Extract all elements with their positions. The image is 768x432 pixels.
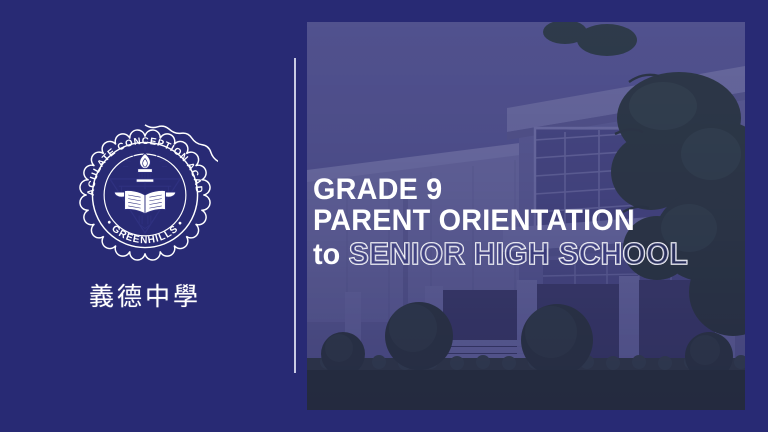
school-chinese-name: 義德中學	[89, 284, 201, 309]
school-seal-icon: IMMACULATE CONCEPTION ACADEMY • GREENHIL…	[72, 122, 218, 268]
presentation-slide: IMMACULATE CONCEPTION ACADEMY • GREENHIL…	[0, 0, 768, 432]
headline-line-3: to SENIOR HIGH SCHOOL	[313, 238, 732, 271]
headline-outlined-text: SENIOR HIGH SCHOOL	[349, 238, 688, 270]
slide-headline: GRADE 9 PARENT ORIENTATION to SENIOR HIG…	[313, 174, 749, 271]
headline-line-2: PARENT ORIENTATION	[313, 205, 732, 236]
headline-preposition: to	[313, 239, 340, 271]
accent-vertical-rule	[294, 58, 296, 373]
school-branding: IMMACULATE CONCEPTION ACADEMY • GREENHIL…	[45, 122, 245, 322]
headline-line-1: GRADE 9	[313, 174, 732, 205]
